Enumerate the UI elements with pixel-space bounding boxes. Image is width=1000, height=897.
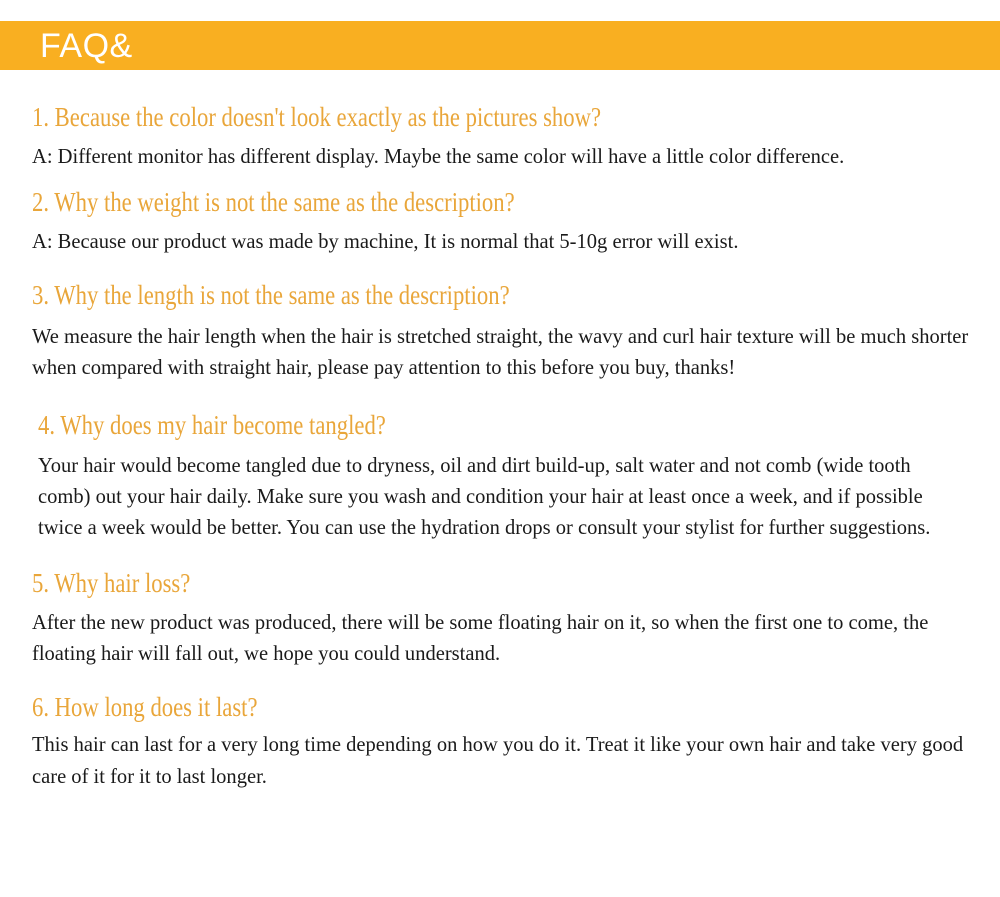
faq-answer-4: Your hair would become tangled due to dr…	[38, 450, 962, 544]
faq-question-2: 2. Why the weight is not the same as the…	[32, 189, 970, 216]
faq-question-3: 3. Why the length is not the same as the…	[32, 282, 970, 309]
faq-item-1: 1. Because the color doesn't look exactl…	[0, 104, 1000, 172]
faq-header-banner: FAQ&	[0, 21, 1000, 70]
faq-question-4: 4. Why does my hair become tangled?	[38, 412, 962, 439]
faq-answer-2: A: Because our product was made by machi…	[32, 226, 970, 257]
faq-header-title: FAQ&	[0, 29, 133, 63]
faq-item-2: 2. Why the weight is not the same as the…	[0, 189, 1000, 257]
faq-item-3: 3. Why the length is not the same as the…	[0, 282, 1000, 384]
faq-question-6: 6. How long does it last?	[32, 694, 970, 721]
faq-page: FAQ& 1. Because the color doesn't look e…	[0, 0, 1000, 897]
faq-item-4: 4. Why does my hair become tangled? Your…	[0, 412, 1000, 544]
faq-question-5: 5. Why hair loss?	[32, 570, 970, 597]
faq-item-6: 6. How long does it last? This hair can …	[0, 694, 1000, 792]
faq-answer-5: After the new product was produced, ther…	[32, 607, 970, 670]
faq-list: 1. Because the color doesn't look exactl…	[0, 70, 1000, 792]
faq-answer-6: This hair can last for a very long time …	[32, 729, 970, 792]
faq-question-1: 1. Because the color doesn't look exactl…	[32, 104, 970, 131]
faq-item-5: 5. Why hair loss? After the new product …	[0, 570, 1000, 670]
faq-answer-1: A: Different monitor has different displ…	[32, 141, 970, 172]
faq-answer-3: We measure the hair length when the hair…	[32, 321, 970, 384]
